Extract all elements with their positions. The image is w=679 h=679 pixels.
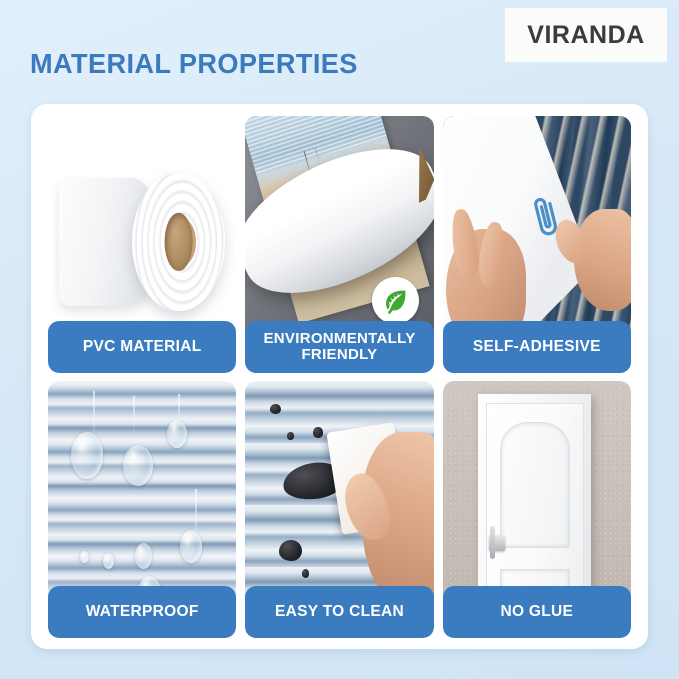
water-droplet bbox=[103, 553, 114, 568]
stain-mark bbox=[302, 569, 310, 578]
page-title: MATERIAL PROPERTIES bbox=[30, 48, 358, 80]
feature-panel: PVC MATERIAL bbox=[31, 104, 648, 649]
door-panel-top bbox=[500, 422, 570, 548]
stain-mark bbox=[270, 404, 281, 414]
feature-label-self-adhesive: SELF-ADHESIVE bbox=[443, 321, 631, 373]
water-droplet bbox=[135, 543, 152, 569]
feature-card-environmentally-friendly[interactable]: ENVIRONMENTALLY FRIENDLY bbox=[245, 116, 433, 373]
feature-card-self-adhesive[interactable]: SELF-ADHESIVE bbox=[443, 116, 631, 373]
infographic-page: MATERIAL PROPERTIES VIRANDA PVC MATERIAL bbox=[0, 0, 679, 679]
water-droplet bbox=[167, 420, 188, 448]
feature-label-environmentally-friendly: ENVIRONMENTALLY FRIENDLY bbox=[245, 321, 433, 373]
feature-card-waterproof[interactable]: WATERPROOF bbox=[48, 381, 236, 638]
hand-holding-cloth bbox=[362, 432, 434, 602]
water-droplet bbox=[123, 445, 153, 486]
roll-cylinder bbox=[132, 173, 225, 312]
eco-badge bbox=[372, 277, 419, 324]
stain-mark bbox=[287, 432, 295, 440]
feature-label-waterproof: WATERPROOF bbox=[48, 586, 236, 638]
brand-name: VIRANDA bbox=[527, 21, 644, 50]
roll-cardboard-core bbox=[164, 213, 193, 271]
stain-mark bbox=[279, 540, 302, 561]
feature-label-pvc-material: PVC MATERIAL bbox=[48, 321, 236, 373]
brand-logo: VIRANDA bbox=[505, 8, 667, 62]
water-droplet bbox=[80, 551, 89, 564]
leaf-icon bbox=[380, 286, 410, 316]
feature-label-easy-to-clean: EASY TO CLEAN bbox=[245, 586, 433, 638]
water-droplet bbox=[71, 432, 103, 478]
door-handle bbox=[489, 535, 505, 551]
feature-card-no-glue[interactable]: NO GLUE bbox=[443, 381, 631, 638]
water-trail bbox=[93, 391, 95, 437]
feature-grid: PVC MATERIAL bbox=[48, 116, 631, 638]
water-trail bbox=[133, 396, 135, 432]
feature-card-pvc-material[interactable]: PVC MATERIAL bbox=[48, 116, 236, 373]
header: MATERIAL PROPERTIES VIRANDA bbox=[0, 0, 679, 96]
feature-label-no-glue: NO GLUE bbox=[443, 586, 631, 638]
feature-card-easy-to-clean[interactable]: EASY TO CLEAN bbox=[245, 381, 433, 638]
stain-mark bbox=[313, 427, 322, 437]
water-droplet bbox=[180, 530, 203, 563]
vinyl-roll-graphic bbox=[59, 173, 225, 312]
